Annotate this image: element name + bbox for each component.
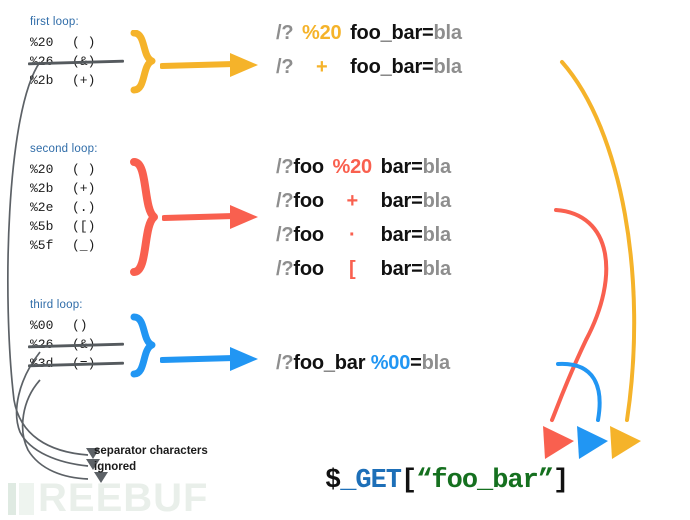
annotation-line-2: ignored [94,459,208,475]
loop-row: %2b(+) [30,71,128,90]
url-line: /?foo [ bar=bla [276,258,451,281]
url-equals: = [422,22,433,44]
url-separator: %20 [299,22,345,45]
loop-row: %3d(=) [30,354,128,373]
php-get-expression: $_GET[“foo_bar”] [325,466,568,496]
url-value: bla [422,352,450,374]
loop-row-char: (=) [72,354,95,373]
url-equals: = [422,56,433,78]
loop-row-hex: %2e [30,198,72,217]
loop-row: %26(&) [30,52,128,71]
url-prefix: /? [276,22,293,44]
url-separator: + [329,190,375,213]
url-equals: = [410,352,421,374]
loop-row-hex: %5f [30,236,72,255]
url-separator: %00 [371,352,410,375]
arrow-third-loop [160,344,260,374]
key-string: “foo_bar” [416,466,553,496]
loop-title-third: third loop: [30,299,128,311]
url-separator: · [329,224,375,247]
brace-first-loop [128,30,160,96]
close-bracket: ] [553,466,568,496]
url-line: /? + foo_bar=bla [276,56,462,79]
loop-row-hex: %00 [30,316,72,335]
loop-row: %5f(_) [30,236,128,255]
get-superglobal: _GET [340,466,401,496]
loop-row-hex: %5b [30,217,72,236]
loop-row: %20( ) [30,160,128,179]
url-prefix: /? [276,156,293,178]
loop-row: %2b(+) [30,179,128,198]
url-line: /?foo · bar=bla [276,224,451,247]
url-left: foo [293,224,324,246]
annotation-line-1: separator characters [94,443,208,459]
url-value: bla [423,224,451,246]
loop-row-char: ( ) [72,160,95,179]
loop-row-hex: %3d [30,354,72,373]
loop-row-hex: %26 [30,335,72,354]
url-line: /?foo + bar=bla [276,190,451,213]
open-bracket: [ [401,466,416,496]
red-flow-arrowhead [543,426,574,459]
loop-row-hex: %2b [30,71,72,90]
loop-row-char: ([) [72,217,95,236]
arrow-second-loop [162,202,260,232]
url-left: foo [293,258,324,280]
dollar-sign: $ [325,466,340,496]
url-value: bla [423,156,451,178]
loop-row-char: () [72,316,88,335]
url-prefix: /? [276,56,293,78]
url-value: bla [434,56,462,78]
url-equals: = [411,190,422,212]
url-line: /?foo %20 bar=bla [276,156,451,179]
loop-row: %5b([) [30,217,128,236]
loop-row: %2e(.) [30,198,128,217]
arrow-first-loop [160,50,260,80]
url-equals: = [411,224,422,246]
url-right: bar [381,258,412,280]
loop-row-char: ( ) [72,33,95,52]
loop-row-hex: %26 [30,52,72,71]
url-line: /?foo_bar %00=bla [276,352,450,375]
brace-second-loop [128,158,162,278]
url-right: foo_bar [350,22,422,44]
url-value: bla [423,190,451,212]
loop-title-first: first loop: [30,16,128,28]
url-left: foo [293,156,324,178]
loop-row: %00() [30,316,128,335]
url-separator: %20 [329,156,375,179]
url-prefix: /? [276,224,293,246]
url-right: foo_bar [350,56,422,78]
loop-block-second: second loop: %20( ) %2b(+) %2e(.) %5b([)… [30,143,128,255]
url-right: bar [381,224,412,246]
url-line: /? %20 foo_bar=bla [276,22,462,45]
url-left: foo [293,190,324,212]
yellow-flow-arrowhead [610,426,641,459]
loop-row-char: (.) [72,198,95,217]
loop-row-hex: %20 [30,33,72,52]
url-left: foo_bar [293,352,365,374]
loop-block-first: first loop: %20( ) %26(&) %2b(+) [30,16,128,90]
brace-third-loop [128,313,160,381]
url-prefix: /? [276,352,293,374]
url-value: bla [434,22,462,44]
url-right: bar [381,190,412,212]
diagram-canvas: REEBUF first loop: %20( ) %26(&) %2b(+) [0,0,690,519]
loop-row-char: (&) [72,335,95,354]
url-prefix: /? [276,190,293,212]
url-separator: [ [329,258,375,281]
separator-annotation: separator characters ignored [94,443,208,475]
loop-block-third: third loop: %00() %26(&) %3d(=) [30,299,128,373]
url-separator: + [299,56,345,79]
url-equals: = [411,156,422,178]
loop-row-hex: %20 [30,160,72,179]
url-equals: = [411,258,422,280]
loop-row-char: (+) [72,179,95,198]
blue-flow-arrowhead [577,426,608,459]
loop-title-second: second loop: [30,143,128,155]
loop-row-char: (_) [72,236,95,255]
loop-row: %26(&) [30,335,128,354]
url-value: bla [423,258,451,280]
loop-row: %20( ) [30,33,128,52]
loop-row-hex: %2b [30,179,72,198]
url-right: bar [381,156,412,178]
loop-row-char: (+) [72,71,95,90]
loop-row-char: (&) [72,52,95,71]
url-prefix: /? [276,258,293,280]
